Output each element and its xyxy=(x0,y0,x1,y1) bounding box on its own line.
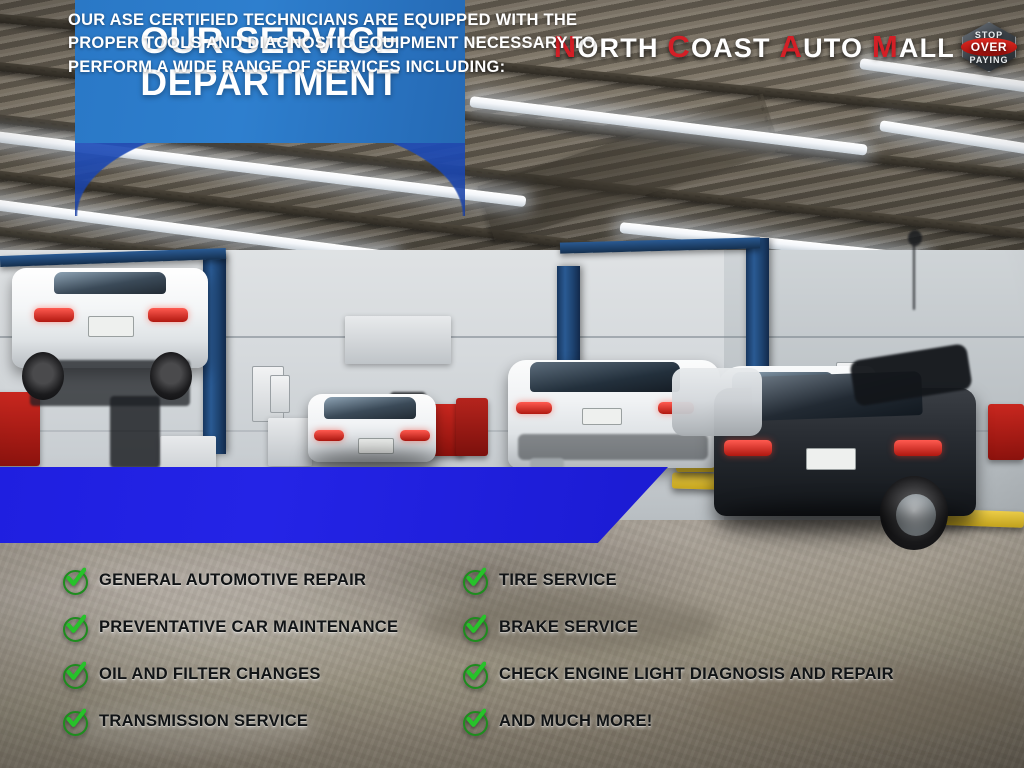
brand-cap-a: A xyxy=(779,29,803,64)
service-label: TRANSMISSION SERVICE xyxy=(99,712,308,731)
badge-middle-text: OVER xyxy=(971,40,1007,54)
check-icon xyxy=(62,662,88,688)
brand-cap-m: M xyxy=(872,29,899,64)
stop-over-paying-badge[interactable]: STOP OVER PAYING xyxy=(962,22,1016,72)
list-item[interactable]: GENERAL AUTOMOTIVE REPAIR xyxy=(62,557,398,604)
service-label: GENERAL AUTOMOTIVE REPAIR xyxy=(99,571,366,590)
service-label: CHECK ENGINE LIGHT DIAGNOSIS AND REPAIR xyxy=(499,665,894,684)
services-left-column: GENERAL AUTOMOTIVE REPAIR PREVENTATIVE C… xyxy=(62,557,398,745)
intro-banner xyxy=(0,467,668,543)
list-item[interactable]: TIRE SERVICE xyxy=(462,557,894,604)
check-icon xyxy=(62,615,88,641)
service-label: BRAKE SERVICE xyxy=(499,618,638,637)
service-label: AND MUCH MORE! xyxy=(499,712,653,731)
service-department-banner: OUR SERVICE DEPARTMENT NORTH COAST AUTO … xyxy=(0,0,1024,768)
list-item[interactable]: TRANSMISSION SERVICE xyxy=(62,698,398,745)
list-item[interactable]: PREVENTATIVE CAR MAINTENANCE xyxy=(62,604,398,651)
service-label: TIRE SERVICE xyxy=(499,571,617,590)
list-item[interactable]: AND MUCH MORE! xyxy=(462,698,894,745)
check-icon xyxy=(62,568,88,594)
service-label: OIL AND FILTER CHANGES xyxy=(99,665,321,684)
badge-bottom-text: PAYING xyxy=(962,55,1016,65)
check-icon xyxy=(462,662,488,688)
services-right-column: TIRE SERVICE BRAKE SERVICE CHECK ENGINE … xyxy=(462,557,894,745)
hero-panel-arch xyxy=(75,143,465,216)
brand-rest-auto: UTO xyxy=(803,33,863,63)
brand-rest-mall: ALL xyxy=(899,33,955,63)
check-icon xyxy=(462,615,488,641)
list-item[interactable]: BRAKE SERVICE xyxy=(462,604,894,651)
check-icon xyxy=(62,709,88,735)
list-item[interactable]: CHECK ENGINE LIGHT DIAGNOSIS AND REPAIR xyxy=(462,651,894,698)
brand-rest-coast: OAST xyxy=(691,33,771,63)
intro-banner-text: OUR ASE CERTIFIED TECHNICIANS ARE EQUIPP… xyxy=(68,9,628,79)
check-icon xyxy=(462,709,488,735)
badge-oval: OVER xyxy=(961,38,1017,56)
check-icon xyxy=(462,568,488,594)
list-item[interactable]: OIL AND FILTER CHANGES xyxy=(62,651,398,698)
service-label: PREVENTATIVE CAR MAINTENANCE xyxy=(99,618,398,637)
brand-cap-c: C xyxy=(667,29,691,64)
